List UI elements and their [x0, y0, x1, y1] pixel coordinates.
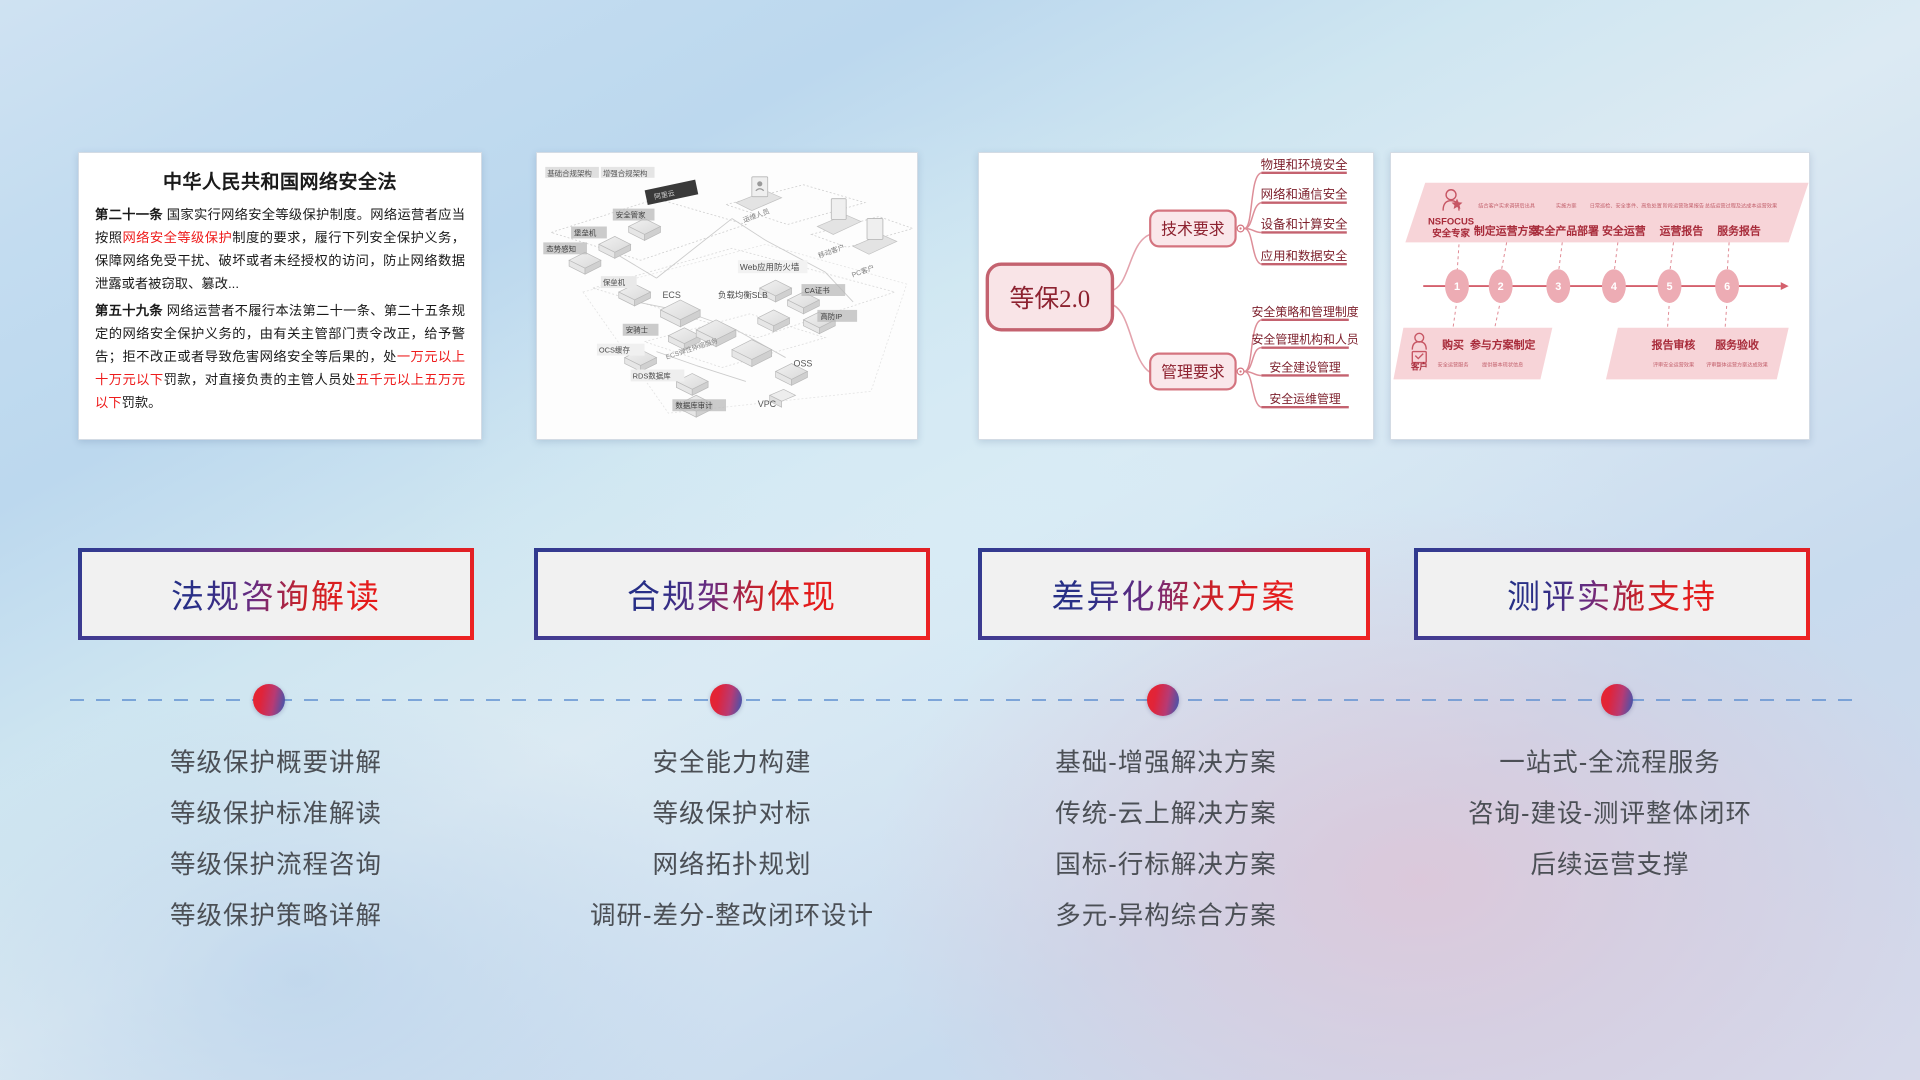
svg-text:实施方案: 实施方案 — [1556, 202, 1577, 210]
section-title-label: 差异化解决方案 — [1052, 570, 1297, 618]
svg-text:安全产品部署: 安全产品部署 — [1534, 223, 1600, 237]
svg-text:OCS缓存: OCS缓存 — [599, 345, 631, 355]
svg-text:应用和数据安全: 应用和数据安全 — [1261, 248, 1348, 263]
svg-text:总结运营过程及达成本运营效果: 总结运营过程及达成本运营效果 — [1705, 202, 1777, 210]
bullet-column-3: 基础-增强解决方案 传统-云上解决方案 国标-行标解决方案 多元-异构综合方案 — [960, 738, 1372, 942]
section-title-label: 合规架构体现 — [627, 570, 837, 618]
svg-text:技术要求: 技术要求 — [1161, 220, 1225, 238]
bullet-column-2: 安全能力构建 等级保护对标 网络拓扑规划 调研-差分-整改闭环设计 — [534, 738, 930, 942]
slide-canvas: 中华人民共和国网络安全法 第二十一条 国家实行网络安全等级保护制度。网络运营者应… — [0, 0, 1920, 1080]
bullet-item: 咨询-建设-测评整体闭环 — [1400, 789, 1820, 840]
law-run-highlight: 网络安全等级保护 — [122, 230, 232, 245]
svg-text:Web应用防火墙: Web应用防火墙 — [740, 262, 800, 272]
svg-text:提供基本现状信息: 提供基本现状信息 — [1482, 361, 1523, 369]
svg-text:OSS: OSS — [794, 359, 813, 369]
law-paragraph: 第五十九条 网络运营者不履行本法第二十一条、第二十五条规定的网络安全保护义务的，… — [95, 300, 465, 414]
svg-text:RDS数据库: RDS数据库 — [633, 370, 672, 380]
thumbnail-cards-row: 中华人民共和国网络安全法 第二十一条 国家实行网络安全等级保护制度。网络运营者应… — [0, 152, 1920, 444]
bullet-item: 网络拓扑规划 — [534, 840, 930, 891]
svg-text:4: 4 — [1611, 281, 1617, 293]
svg-text:参与方案制定: 参与方案制定 — [1470, 338, 1536, 352]
svg-text:结合客户实求调研后出具: 结合客户实求调研后出具 — [1478, 202, 1535, 210]
svg-text:安骑士: 安骑士 — [626, 325, 649, 335]
law-paragraph: 第二十一条 国家实行网络安全等级保护制度。网络运营者应当按照网络安全等级保护制度… — [95, 204, 465, 295]
svg-text:5: 5 — [1666, 281, 1672, 293]
bullet-item: 等级保护概要讲解 — [78, 738, 474, 789]
dengbao-mindmap: 技术要求 — [979, 153, 1373, 439]
section-title-box-1[interactable]: 法规咨询解读 — [78, 548, 474, 640]
svg-text:增强合规架构: 增强合规架构 — [603, 168, 648, 178]
bullet-item: 传统-云上解决方案 — [960, 789, 1372, 840]
section-titles-row: 法规咨询解读 合规架构体现 差异化解决方案 测评实施支持 — [0, 548, 1920, 640]
svg-text:安全运营服务: 安全运营服务 — [1438, 361, 1469, 369]
svg-text:报告审核: 报告审核 — [1652, 338, 1696, 352]
bullet-item: 后续运营支撑 — [1400, 840, 1820, 891]
svg-text:等保2.0: 等保2.0 — [1010, 285, 1091, 313]
law-text-card[interactable]: 中华人民共和国网络安全法 第二十一条 国家实行网络安全等级保护制度。网络运营者应… — [78, 152, 482, 440]
section-title-box-3[interactable]: 差异化解决方案 — [978, 548, 1370, 640]
svg-text:安全运维管理: 安全运维管理 — [1269, 392, 1341, 406]
section-title-label: 法规咨询解读 — [171, 570, 381, 618]
bullet-item: 多元-异构综合方案 — [960, 891, 1372, 942]
svg-text:设备和计算安全: 设备和计算安全 — [1261, 216, 1348, 231]
bullet-item: 一站式-全流程服务 — [1400, 738, 1820, 789]
svg-text:ECS: ECS — [662, 290, 680, 300]
section-title-box-2[interactable]: 合规架构体现 — [534, 548, 930, 640]
timeline-dot-1[interactable] — [253, 684, 285, 716]
law-article-number: 第五十九条 — [95, 303, 163, 318]
law-body: 中华人民共和国网络安全法 第二十一条 国家实行网络安全等级保护制度。网络运营者应… — [79, 153, 481, 430]
svg-text:服务验收: 服务验收 — [1715, 338, 1759, 352]
bullet-item: 调研-差分-整改闭环设计 — [534, 891, 930, 942]
svg-text:服务报告: 服务报告 — [1717, 223, 1761, 237]
bullet-item: 等级保护流程咨询 — [78, 840, 474, 891]
svg-text:高防IP: 高防IP — [820, 311, 842, 321]
section-title-box-4[interactable]: 测评实施支持 — [1414, 548, 1810, 640]
svg-text:评审整体运营方案达成效果: 评审整体运营方案达成效果 — [1706, 361, 1768, 369]
svg-text:态势感知: 态势感知 — [546, 243, 576, 253]
svg-text:1: 1 — [1454, 281, 1460, 293]
svg-text:3: 3 — [1555, 281, 1561, 293]
svg-text:NSFOCUS: NSFOCUS — [1428, 216, 1474, 227]
svg-text:物理和环境安全: 物理和环境安全 — [1261, 157, 1348, 172]
bullet-item: 基础-增强解决方案 — [960, 738, 1372, 789]
svg-text:安全策略和管理制度: 安全策略和管理制度 — [1252, 305, 1359, 319]
bullet-item: 安全能力构建 — [534, 738, 930, 789]
svg-text:网络和通信安全: 网络和通信安全 — [1261, 187, 1348, 202]
law-run-text: 罚款，对直接负责的主管人员处 — [164, 372, 356, 387]
svg-text:堡垒机: 堡垒机 — [574, 227, 597, 237]
timeline-dot-2[interactable] — [710, 684, 742, 716]
svg-text:评审安全运营效果: 评审安全运营效果 — [1653, 361, 1694, 369]
svg-text:运营报告: 运营报告 — [1660, 223, 1704, 237]
bullet-item: 国标-行标解决方案 — [960, 840, 1372, 891]
svg-text:2: 2 — [1498, 281, 1504, 293]
timeline-dashed-line — [70, 699, 1860, 701]
svg-text:安全管理机构和人员: 安全管理机构和人员 — [1252, 333, 1359, 347]
svg-text:制定运营方案: 制定运营方案 — [1474, 223, 1541, 237]
svg-text:客户: 客户 — [1410, 361, 1428, 371]
svg-text:安全建设管理: 安全建设管理 — [1269, 360, 1341, 374]
svg-text:购买: 购买 — [1442, 338, 1464, 352]
service-roadmap-card[interactable]: 123 456 — [1390, 152, 1810, 440]
svg-text:CA证书: CA证书 — [804, 285, 830, 295]
bullet-item: 等级保护策略详解 — [78, 891, 474, 942]
svg-text:VPC: VPC — [758, 399, 777, 409]
timeline-dot-4[interactable] — [1601, 684, 1633, 716]
law-run-text: 罚款。 — [122, 395, 162, 410]
service-roadmap: 123 456 — [1391, 153, 1809, 439]
svg-text:6: 6 — [1724, 281, 1730, 293]
timeline — [0, 670, 1920, 730]
svg-text:安全专家: 安全专家 — [1432, 227, 1470, 238]
section-title-label: 测评实施支持 — [1507, 570, 1717, 618]
bullet-column-4: 一站式-全流程服务 咨询-建设-测评整体闭环 后续运营支撑 — [1400, 738, 1820, 891]
svg-text:基础合规架构: 基础合规架构 — [547, 168, 592, 178]
mindmap-card[interactable]: 技术要求 — [978, 152, 1374, 440]
architecture-diagram: 基础合规架构 增强合规架构 阿里云 安全管家 堡垒机 态势感知 保垒机 ECS … — [537, 153, 917, 439]
bullet-columns: 等级保护概要讲解 等级保护标准解读 等级保护流程咨询 等级保护策略详解 安全能力… — [0, 738, 1920, 988]
svg-text:阶段运营效果报告: 阶段运营效果报告 — [1663, 202, 1704, 210]
svg-text:安全运营: 安全运营 — [1602, 223, 1646, 237]
cloud-architecture-card[interactable]: 基础合规架构 增强合规架构 阿里云 安全管家 堡垒机 态势感知 保垒机 ECS … — [536, 152, 918, 440]
timeline-dot-3[interactable] — [1147, 684, 1179, 716]
bullet-column-1: 等级保护概要讲解 等级保护标准解读 等级保护流程咨询 等级保护策略详解 — [78, 738, 474, 942]
svg-text:数据库审计: 数据库审计 — [675, 400, 713, 410]
svg-text:负载均衡SLB: 负载均衡SLB — [718, 290, 768, 300]
bullet-item: 等级保护对标 — [534, 789, 930, 840]
law-article-number: 第二十一条 — [95, 207, 163, 222]
svg-text:日常巡检、安全事件、高危处置: 日常巡检、安全事件、高危处置 — [1590, 202, 1662, 210]
svg-text:管理要求: 管理要求 — [1161, 363, 1225, 381]
svg-text:安全管家: 安全管家 — [616, 210, 646, 220]
law-title: 中华人民共和国网络安全法 — [95, 167, 465, 194]
bullet-item: 等级保护标准解读 — [78, 789, 474, 840]
svg-text:保垒机: 保垒机 — [603, 277, 626, 287]
